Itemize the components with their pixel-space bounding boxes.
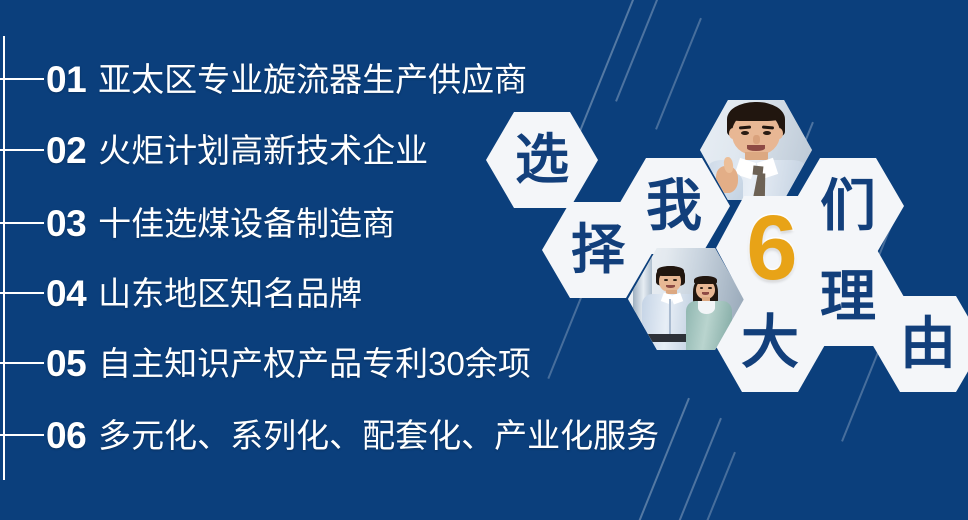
hex-number-six: 6 (746, 202, 797, 294)
hex-glyph: 我 (646, 178, 702, 234)
hex-glyph: 大 (741, 314, 799, 372)
hexagon-headline-cluster: 选择我6大们理由 (0, 0, 968, 520)
hex-tile-xuan: 选 (486, 112, 598, 208)
promo-banner: 01亚太区专业旋流器生产供应商02火炬计划高新技术企业03十佳选煤设备制造商04… (0, 0, 968, 520)
hex-glyph: 由 (900, 316, 956, 372)
hex-glyph: 们 (820, 178, 876, 234)
hex-glyph: 理 (820, 269, 876, 325)
hex-glyph: 选 (515, 133, 569, 187)
hex-glyph: 择 (571, 223, 625, 277)
